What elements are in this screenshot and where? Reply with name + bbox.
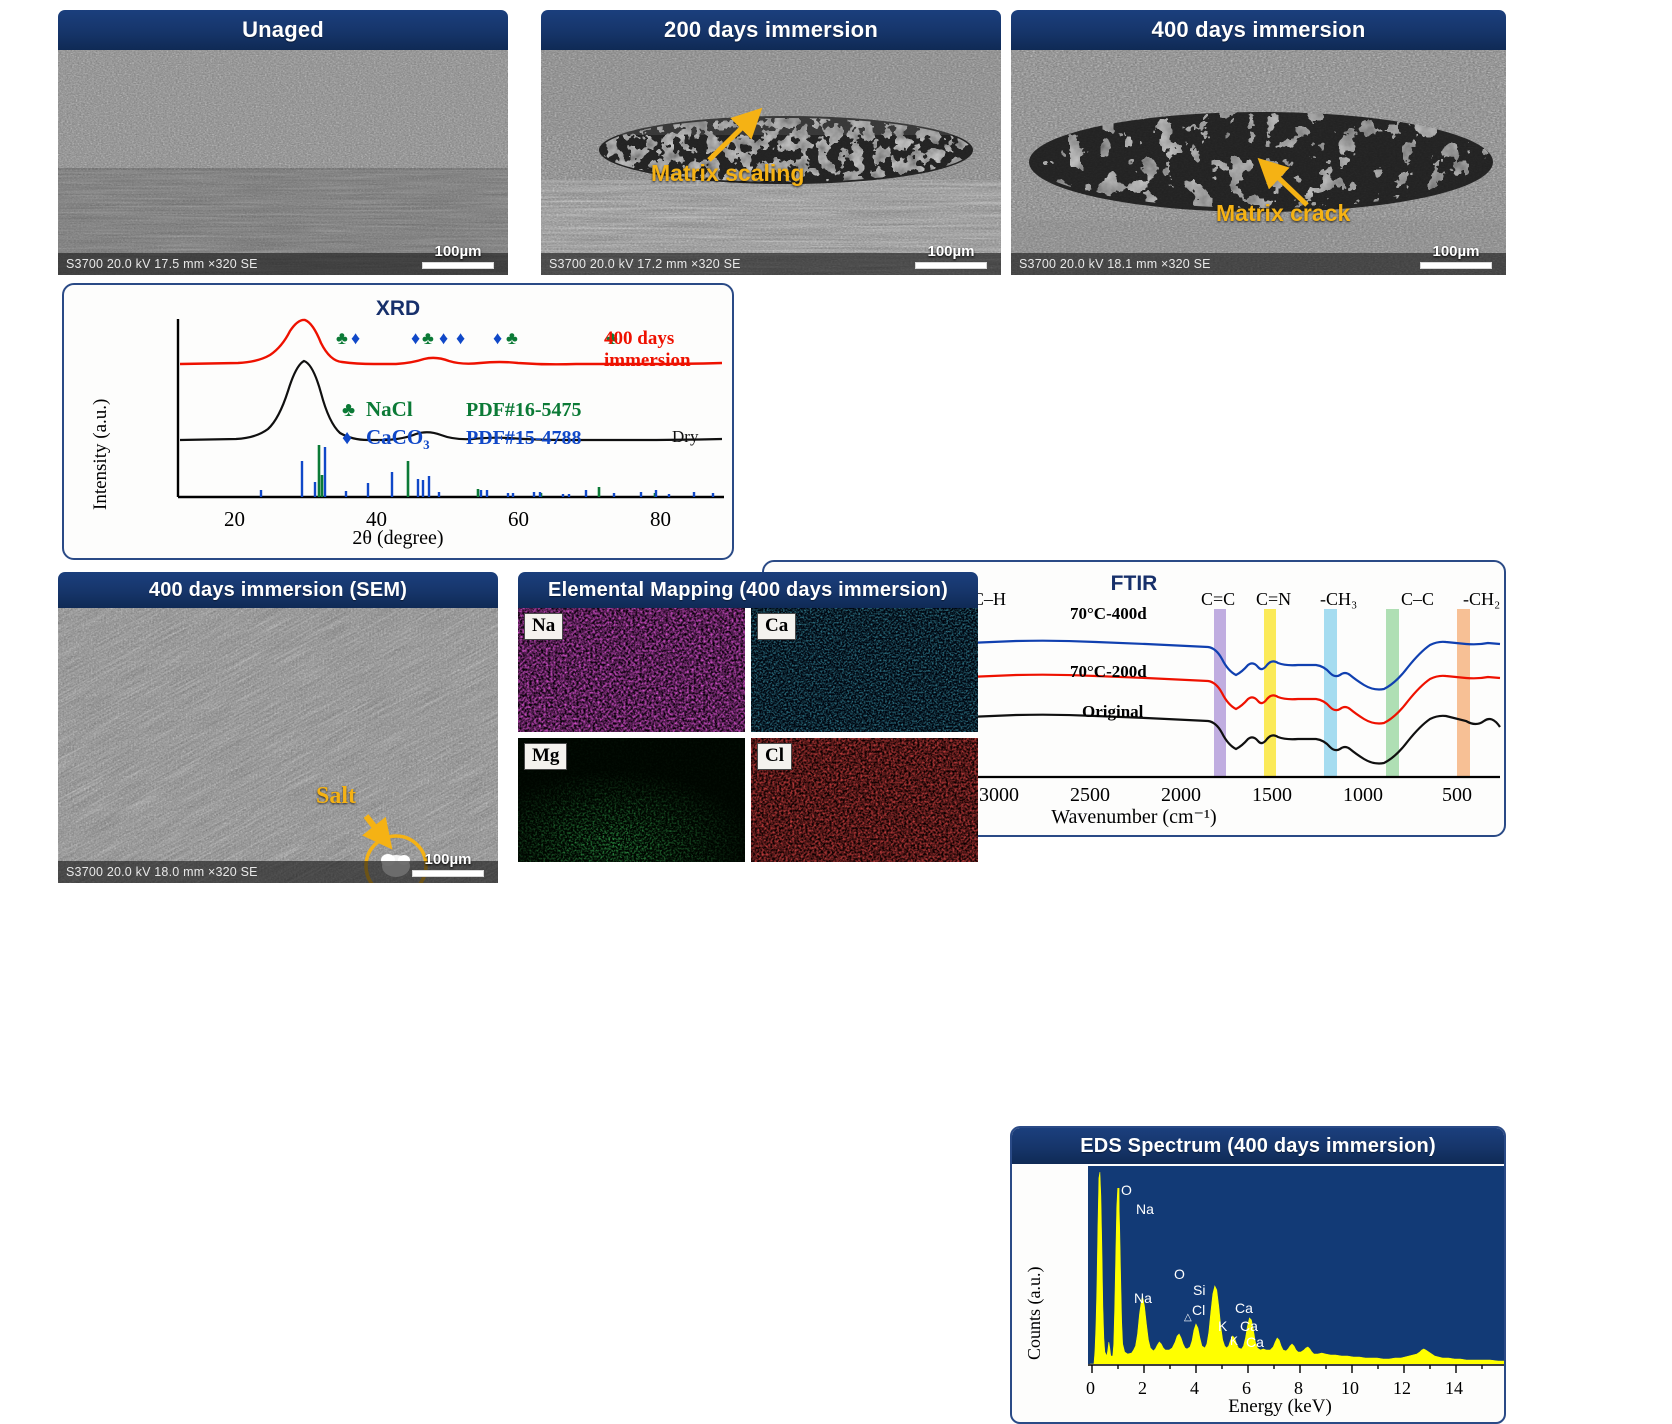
scalebar-label: 100µm	[424, 852, 471, 868]
sem-image-400days: Matrix crack S3700 20.0 kV 18.1 mm ×320 …	[1011, 50, 1506, 275]
ftir-series-label-400d: 70°C-400d	[1070, 604, 1147, 624]
ftir-band-label-cc: C–C	[1401, 589, 1434, 610]
ftir-band-label-cc-double: C=C	[1201, 589, 1235, 610]
sem-image-400days-bottom: Salt S3700 20.0 kV 18.0 mm ×320 SE 100µm	[58, 608, 498, 883]
eds-label-k-2: K	[1230, 1334, 1238, 1348]
xrd-markers-nacl: ♣ ♣ ♣ ♣	[336, 328, 618, 348]
svg-text:♦: ♦	[291, 317, 300, 319]
xrd-xtick-40: 40	[366, 507, 387, 532]
mapping-grid: Na Ca Mg	[518, 608, 978, 862]
eds-xlabel: Energy (keV)	[1056, 1396, 1504, 1418]
svg-text:♣: ♣	[336, 328, 348, 348]
ftir-xtick-1000: 1000	[1343, 784, 1383, 807]
eds-label-o-1: O	[1121, 1182, 1132, 1198]
annotation-salt: Salt	[316, 783, 356, 810]
eds-xtick-0: 0	[1086, 1378, 1095, 1399]
sem-image-unaged: S3700 20.0 kV 17.5 mm ×320 SE 100µm	[58, 50, 508, 275]
sem-panel-200days: 200 days immersion	[541, 10, 1001, 275]
ftir-xtick-2500: 2500	[1070, 784, 1110, 807]
legend-label-caco3: CaCO3	[366, 425, 466, 453]
scalebar-400days-bottom: 100µm	[412, 852, 484, 877]
eds-xtick-4: 4	[1190, 1378, 1199, 1399]
scalebar-line	[422, 262, 494, 269]
xrd-ylabel: Intensity (a.u.)	[90, 399, 112, 510]
legend-pdf-nacl: PDF#16-5475	[466, 399, 582, 422]
ftir-xtick-500: 500	[1442, 784, 1472, 807]
scalebar-label: 100µm	[434, 244, 481, 260]
sem-header-400days-bottom: 400 days immersion (SEM)	[58, 572, 498, 608]
eds-xtick-6: 6	[1242, 1378, 1251, 1399]
sem-panel-400days: 400 days immersion	[1011, 10, 1506, 275]
xrd-xtick-20: 20	[224, 507, 245, 532]
scalebar-line	[412, 870, 484, 877]
xrd-ref-sticks-caco3	[261, 447, 713, 497]
eds-xtick-10: 10	[1341, 1378, 1359, 1399]
map-tile-cl: Cl	[751, 738, 978, 862]
ftir-xtick-2000: 2000	[1161, 784, 1201, 807]
sem-header-400days: 400 days immersion	[1011, 10, 1506, 50]
sem-header-unaged: Unaged	[58, 10, 508, 50]
eds-label-na-2: Na	[1134, 1290, 1152, 1306]
xrd-xlabel: 2θ (degree)	[64, 527, 732, 550]
map-tag-mg: Mg	[524, 743, 567, 770]
eds-plot-area: O Na Na O Si Cl K K Ca Ca Ca △	[1088, 1166, 1504, 1364]
svg-text:♦: ♦	[493, 328, 502, 348]
eds-label-k-1: K	[1218, 1318, 1227, 1334]
elemental-mapping-panel: Elemental Mapping (400 days immersion) N…	[518, 572, 978, 862]
ftir-series-label-200d: 70°C-200d	[1070, 662, 1147, 682]
scalebar-label: 100µm	[927, 244, 974, 260]
xrd-xtick-60: 60	[508, 507, 529, 532]
eds-xtick-2: 2	[1138, 1378, 1147, 1399]
svg-text:♣: ♣	[422, 328, 434, 348]
eds-label-na-1: Na	[1136, 1201, 1154, 1217]
annotation-arrow-matrix-scaling	[691, 105, 781, 165]
eds-xtick-14: 14	[1445, 1378, 1463, 1399]
xrd-series-label-dry: Dry	[672, 427, 698, 447]
eds-label-ca-3: Ca	[1246, 1334, 1264, 1350]
xrd-xtick-80: 80	[650, 507, 671, 532]
sem-panel-unaged: Unaged S3700 20.0 kV 17.5 mm ×320 SE	[58, 10, 508, 275]
annotation-arrow-matrix-crack	[1249, 155, 1329, 210]
scalebar-line	[1420, 262, 1492, 269]
scalebar-line	[915, 262, 987, 269]
map-tile-na: Na	[518, 608, 745, 732]
legend-label-nacl: NaCl	[366, 397, 466, 422]
eds-xtick-12: 12	[1393, 1378, 1411, 1399]
mapping-header: Elemental Mapping (400 days immersion)	[518, 572, 978, 608]
scalebar-label: 100µm	[1432, 244, 1479, 260]
legend-pdf-caco3: PDF#15-4788	[466, 427, 582, 450]
eds-marker-triangle: △	[1184, 1312, 1192, 1323]
ftir-xtick-3000: 3000	[979, 784, 1019, 807]
svg-text:♦: ♦	[351, 328, 360, 348]
svg-text:♣: ♣	[506, 328, 518, 348]
scalebar-400days: 100µm	[1420, 244, 1492, 269]
ftir-band-label-ch3: -CH₃	[1320, 589, 1357, 610]
svg-text:♦: ♦	[439, 328, 448, 348]
eds-axis	[1088, 1364, 1506, 1378]
xrd-legend: ♣ NaCl PDF#16-5475 ♦ CaCO3 PDF#15-4788	[342, 397, 582, 453]
map-tile-ca: Ca	[751, 608, 978, 732]
sem-image-200days: Matrix scaling S3700 20.0 kV 17.2 mm ×32…	[541, 50, 1001, 275]
scalebar-unaged: 100µm	[422, 244, 494, 269]
map-tag-cl: Cl	[757, 743, 792, 770]
map-tile-mg: Mg	[518, 738, 745, 862]
sem-panel-400days-bottom: 400 days immersion (SEM)	[58, 572, 498, 883]
sem-micrograph-texture	[58, 50, 508, 275]
ftir-band-label-ch2: -CH₂	[1463, 589, 1500, 610]
eds-spectrum-curve	[1088, 1166, 1504, 1364]
eds-header: EDS Spectrum (400 days immersion)	[1012, 1128, 1504, 1164]
map-tag-ca: Ca	[757, 613, 796, 640]
ftir-series-label-original: Original	[1082, 702, 1143, 722]
eds-label-ca-2: Ca	[1240, 1318, 1258, 1334]
legend-marker-nacl: ♣	[342, 399, 366, 422]
eds-label-ca-1: Ca	[1235, 1300, 1253, 1316]
eds-ylabel: Counts (a.u.)	[1024, 1267, 1045, 1361]
eds-chart-card: EDS Spectrum (400 days immersion) Counts…	[1010, 1126, 1506, 1424]
eds-xtick-8: 8	[1294, 1378, 1303, 1399]
xrd-markers-caco3: ♦♦ ♦ ♦♦♦ ♦	[291, 317, 502, 348]
legend-marker-caco3: ♦	[342, 427, 366, 450]
xrd-series-label-400days: 400 days immersion	[604, 328, 691, 372]
map-tag-na: Na	[524, 613, 563, 640]
eds-label-si: Si	[1193, 1282, 1205, 1298]
scalebar-200days: 100µm	[915, 244, 987, 269]
svg-text:♦: ♦	[411, 328, 420, 348]
ftir-band-label-cn: C=N	[1256, 589, 1291, 610]
svg-text:♦: ♦	[456, 328, 465, 348]
sem-header-200days: 200 days immersion	[541, 10, 1001, 50]
eds-label-o-2: O	[1174, 1266, 1185, 1282]
ftir-xtick-1500: 1500	[1252, 784, 1292, 807]
xrd-chart-card: XRD Intensity (a.u.) 2θ (degree)	[62, 283, 734, 560]
eds-label-cl: Cl	[1192, 1302, 1205, 1318]
